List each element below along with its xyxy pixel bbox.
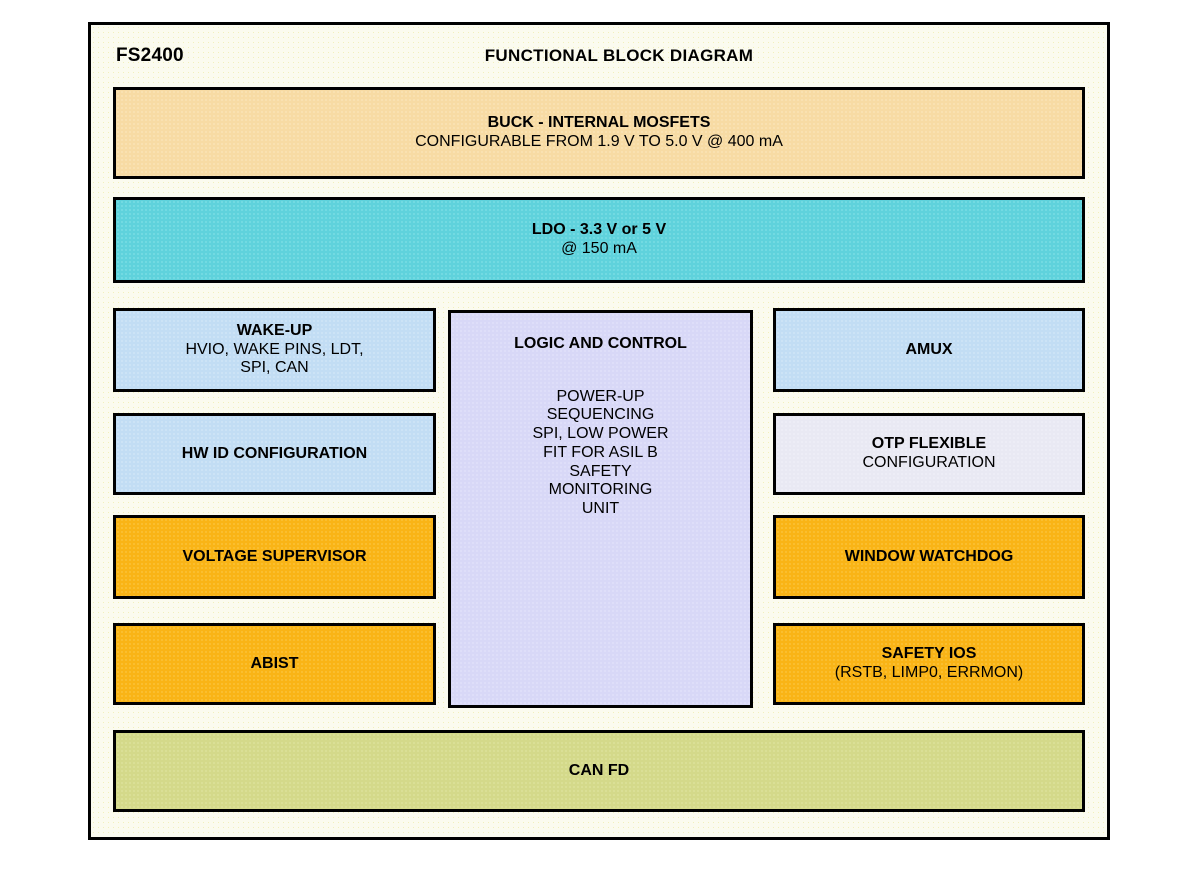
block-logic-line-5: SAFETY — [569, 463, 631, 482]
functional-block-diagram-frame: FS2400 FUNCTIONAL BLOCK DIAGRAM BUCK - I… — [88, 22, 1110, 840]
block-safety-ios-title: SAFETY IOS — [882, 645, 977, 664]
block-window-watchdog: WINDOW WATCHDOG — [773, 515, 1085, 599]
block-hw-id-configuration-title: HW ID CONFIGURATION — [182, 445, 367, 464]
block-logic-line-3: SPI, LOW POWER — [532, 425, 668, 444]
block-logic-and-control-title: LOGIC AND CONTROL — [514, 335, 687, 354]
block-buck-title: BUCK - INTERNAL MOSFETS — [488, 114, 711, 133]
block-hw-id-configuration: HW ID CONFIGURATION — [113, 413, 436, 495]
block-voltage-supervisor: VOLTAGE SUPERVISOR — [113, 515, 436, 599]
block-wake-up-line-2: SPI, CAN — [240, 359, 308, 378]
block-buck: BUCK - INTERNAL MOSFETS CONFIGURABLE FRO… — [113, 87, 1085, 179]
block-abist-title: ABIST — [251, 655, 299, 674]
block-can-fd-title: CAN FD — [569, 762, 629, 781]
block-abist: ABIST — [113, 623, 436, 705]
diagram-header: FS2400 FUNCTIONAL BLOCK DIAGRAM — [91, 25, 1107, 81]
block-amux: AMUX — [773, 308, 1085, 392]
block-amux-title: AMUX — [905, 341, 952, 360]
block-logic-and-control: LOGIC AND CONTROL POWER-UP SEQUENCING SP… — [448, 310, 753, 708]
block-buck-subtitle: CONFIGURABLE FROM 1.9 V TO 5.0 V @ 400 m… — [415, 133, 783, 152]
block-otp-title: OTP FLEXIBLE — [872, 435, 986, 454]
block-window-watchdog-title: WINDOW WATCHDOG — [845, 548, 1014, 567]
block-logic-line-2: SEQUENCING — [547, 406, 655, 425]
block-ldo: LDO - 3.3 V or 5 V @ 150 mA — [113, 197, 1085, 283]
block-safety-ios-subtitle: (RSTB, LIMP0, ERRMON) — [835, 664, 1023, 683]
block-logic-line-7: UNIT — [582, 500, 619, 519]
block-ldo-title: LDO - 3.3 V or 5 V — [532, 221, 666, 240]
block-wake-up-title: WAKE-UP — [237, 322, 313, 341]
block-logic-line-1: POWER-UP — [557, 388, 645, 407]
block-otp-flexible-configuration: OTP FLEXIBLE CONFIGURATION — [773, 413, 1085, 495]
diagram-title: FUNCTIONAL BLOCK DIAGRAM — [91, 46, 1107, 66]
block-can-fd: CAN FD — [113, 730, 1085, 812]
block-safety-ios: SAFETY IOS (RSTB, LIMP0, ERRMON) — [773, 623, 1085, 705]
block-wake-up: WAKE-UP HVIO, WAKE PINS, LDT, SPI, CAN — [113, 308, 436, 392]
block-logic-line-4: FIT FOR ASIL B — [543, 444, 658, 463]
block-otp-subtitle: CONFIGURATION — [862, 454, 995, 473]
block-ldo-subtitle: @ 150 mA — [561, 240, 637, 259]
block-voltage-supervisor-title: VOLTAGE SUPERVISOR — [182, 548, 366, 567]
block-logic-line-6: MONITORING — [549, 481, 653, 500]
block-wake-up-line-1: HVIO, WAKE PINS, LDT, — [185, 341, 363, 360]
